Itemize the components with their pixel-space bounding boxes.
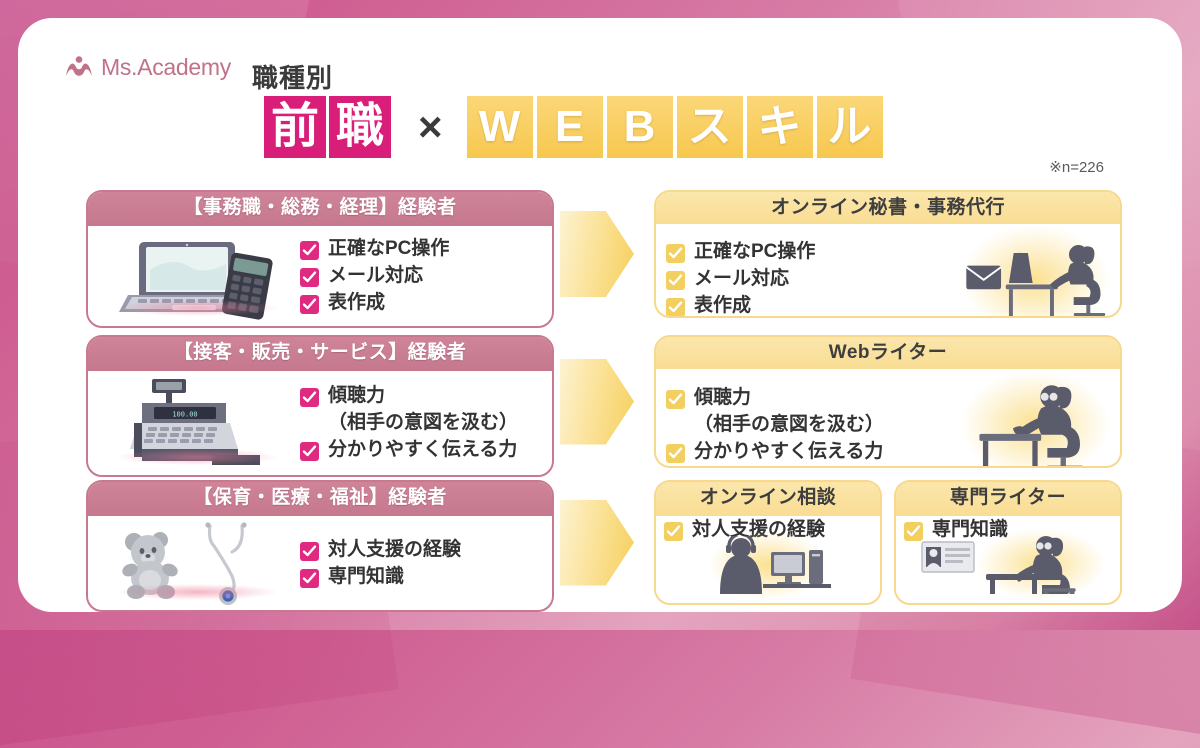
check-sublabel: （相手の意図を汲む）	[666, 414, 884, 436]
cash-register-illustration: 100.00	[98, 375, 296, 471]
right-card-title: Webライター	[656, 337, 1120, 369]
checkbox-icon	[300, 241, 319, 260]
brand-logo: Ms.Academy	[64, 54, 231, 81]
checkbox-icon	[300, 268, 319, 287]
check-label: 対人支援の経験	[328, 539, 461, 561]
times-symbol: ×	[418, 106, 443, 148]
check-item: メール対応	[666, 268, 815, 290]
checkbox-icon	[666, 271, 685, 290]
check-label: メール対応	[328, 265, 423, 287]
arrow-container	[554, 480, 654, 605]
check-label: 表作成	[694, 295, 751, 317]
left-card-title: 【保育・医療・福祉】経験者	[88, 482, 552, 516]
title-kanji-2: 職	[329, 96, 391, 158]
check-label: 分かりやすく伝える力	[694, 441, 883, 463]
check-item: 表作成	[666, 295, 815, 317]
teddy-bear-stethoscope-illustration	[98, 520, 296, 606]
title-web-1: W	[467, 96, 533, 158]
sample-size-note: ※n=226	[1049, 158, 1104, 176]
left-card-checklist: 傾聴力 （相手の意図を汲む） 分かりやすく伝える力	[300, 385, 518, 461]
right-card-title: オンライン相談	[656, 482, 880, 516]
woman-idcard-desk-illustration	[904, 537, 1112, 591]
right-card-specialist-writer: 専門ライター 専門知識	[894, 480, 1122, 605]
check-label: 傾聴力	[328, 385, 385, 407]
mapping-row: 【事務職・総務・経理】経験者	[86, 190, 1122, 318]
checkbox-icon	[666, 298, 685, 317]
right-card-online-consulting: オンライン相談 対人支援の経験	[654, 480, 882, 605]
check-label: 正確なPC操作	[694, 241, 815, 263]
title-web-6: ル	[817, 96, 883, 158]
right-cards: オンライン相談 対人支援の経験	[654, 480, 1122, 605]
arrow-container	[554, 190, 654, 318]
check-item: 専門知識	[300, 566, 461, 588]
title-kanji-1: 前	[264, 96, 326, 158]
check-label: 専門知識	[328, 566, 404, 588]
check-item: 傾聴力	[666, 387, 884, 409]
infographic-card: Ms.Academy 職種別 前 職 × W E B ス キ ル ※n=226 …	[18, 18, 1182, 612]
svg-text:100.00: 100.00	[172, 411, 197, 419]
right-card-title: 専門ライター	[896, 482, 1120, 516]
right-cards: Webライター 傾聴力 （相手の意図を汲む） 分かりやすく伝える力	[654, 335, 1122, 468]
check-label: 表作成	[328, 292, 385, 314]
mapping-row: 【保育・医療・福祉】経験者	[86, 480, 1122, 605]
right-card-checklist: 傾聴力 （相手の意図を汲む） 分かりやすく伝える力	[666, 387, 884, 463]
left-card-checklist: 対人支援の経験 専門知識	[300, 539, 461, 588]
check-sublabel: （相手の意図を汲む）	[300, 412, 518, 434]
checkbox-icon	[300, 388, 319, 407]
check-item: 分かりやすく伝える力	[666, 441, 884, 463]
mapping-grid: 【事務職・総務・経理】経験者	[18, 178, 1182, 602]
right-card-online-secretary: オンライン秘書・事務代行 正確なPC操作 メール対応	[654, 190, 1122, 318]
title-web-4: ス	[677, 96, 743, 158]
title-web-3: B	[607, 96, 673, 158]
check-item: メール対応	[300, 265, 449, 287]
check-label: メール対応	[694, 268, 789, 290]
checkbox-icon	[300, 542, 319, 561]
check-item: 正確なPC操作	[666, 241, 815, 263]
right-card-web-writer: Webライター 傾聴力 （相手の意図を汲む） 分かりやすく伝える力	[654, 335, 1122, 468]
ms-academy-m-icon	[64, 55, 94, 81]
checkbox-icon	[666, 444, 685, 463]
mapping-row: 【接客・販売・サービス】経験者 100.00	[86, 335, 1122, 468]
title-web-2: E	[537, 96, 603, 158]
left-card-title: 【事務職・総務・経理】経験者	[88, 192, 552, 226]
woman-headset-computer-illustration	[664, 539, 872, 591]
arrow-right-pentagon-icon	[560, 500, 634, 586]
left-card-office: 【事務職・総務・経理】経験者	[86, 190, 554, 318]
header-kicker: 職種別	[252, 58, 333, 95]
left-card-checklist: 正確なPC操作 メール対応 表作成	[300, 238, 449, 314]
check-item: 対人支援の経験	[300, 539, 461, 561]
check-label: 正確なPC操作	[328, 238, 449, 260]
brand-name: Ms.Academy	[101, 54, 231, 81]
woman-writing-at-desk-illustration	[960, 373, 1110, 468]
check-label: 分かりやすく伝える力	[328, 439, 517, 461]
check-item: 正確なPC操作	[300, 238, 449, 260]
check-label: 傾聴力	[694, 387, 751, 409]
left-card-childcare-medical: 【保育・医療・福祉】経験者	[86, 480, 554, 605]
title-web-5: キ	[747, 96, 813, 158]
checkbox-icon	[666, 244, 685, 263]
arrow-right-pentagon-icon	[560, 211, 634, 297]
right-card-title: オンライン秘書・事務代行	[656, 192, 1120, 224]
left-card-customer-service: 【接客・販売・サービス】経験者 100.00	[86, 335, 554, 468]
laptop-calculator-illustration	[98, 230, 296, 322]
header: Ms.Academy 職種別 前 職 × W E B ス キ ル ※n=226	[18, 18, 1182, 178]
arrow-right-pentagon-icon	[560, 359, 634, 445]
arrow-container	[554, 335, 654, 468]
check-item: 分かりやすく伝える力	[300, 439, 518, 461]
left-card-title: 【接客・販売・サービス】経験者	[88, 337, 552, 371]
check-item: 表作成	[300, 292, 449, 314]
check-item: 傾聴力	[300, 385, 518, 407]
right-card-checklist: 正確なPC操作 メール対応 表作成	[666, 241, 815, 317]
checkbox-icon	[300, 569, 319, 588]
checkbox-icon	[300, 442, 319, 461]
woman-at-desk-envelope-illustration	[960, 228, 1110, 318]
checkbox-icon	[300, 295, 319, 314]
right-cards: オンライン秘書・事務代行 正確なPC操作 メール対応	[654, 190, 1122, 318]
checkbox-icon	[666, 390, 685, 409]
header-title: 前 職 × W E B ス キ ル	[264, 96, 887, 158]
